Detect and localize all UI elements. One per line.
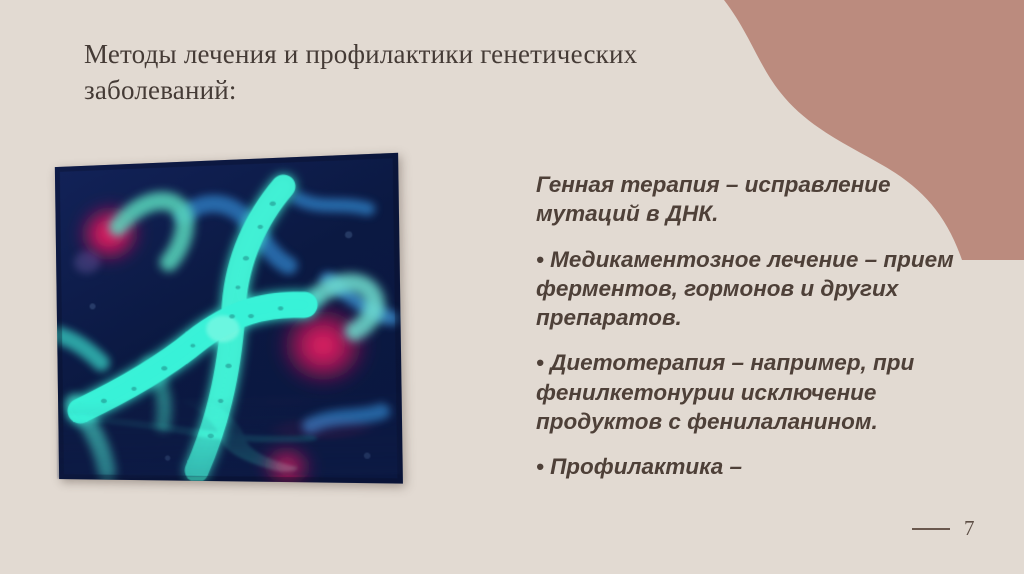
body-paragraph-3: • Диетотерапия – например, при фенилкето… [536,348,956,436]
chromosome-image-container [55,160,395,520]
page-number: 7 [964,516,975,541]
page-number-dash [912,528,950,530]
body-text-column: Генная терапия – исправление мутаций в Д… [536,170,956,482]
page-number-group: 7 [912,516,975,541]
micrograph-reflection-content [56,391,401,479]
page-title: Методы лечения и профилактики генетическ… [84,36,784,108]
slide-canvas: Методы лечения и профилактики генетическ… [0,0,1024,574]
body-paragraph-4: • Профилактика – [536,452,956,481]
body-paragraph-2: • Медикаментозное лечение – прием фермен… [536,245,956,333]
body-paragraph-1: Генная терапия – исправление мутаций в Д… [536,170,956,229]
micrograph-reflection-illustration [56,391,401,479]
chromosome-image-reflection [56,391,401,479]
